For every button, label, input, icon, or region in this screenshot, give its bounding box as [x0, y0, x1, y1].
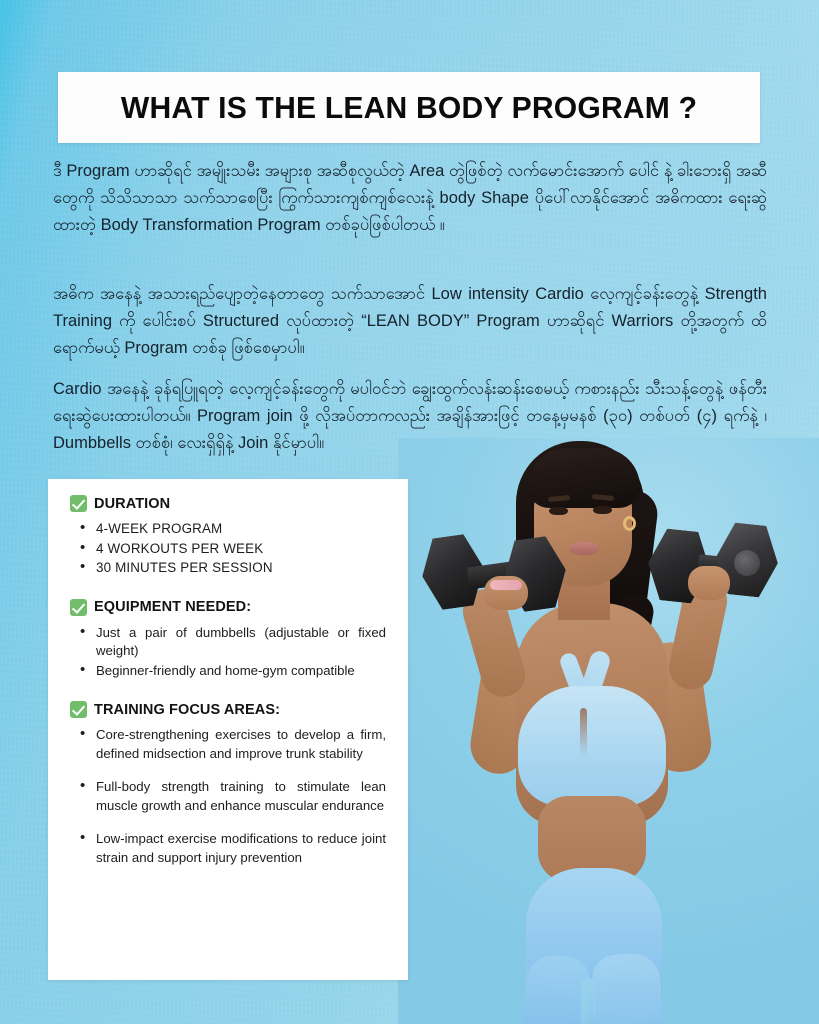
- training-focus-list: Core-strengthening exercises to develop …: [70, 726, 386, 867]
- sports-bra: [518, 686, 666, 806]
- section-label-equipment: EQUIPMENT NEEDED:: [94, 599, 251, 615]
- list-item: 4-WEEK PROGRAM: [70, 520, 386, 539]
- leg-gap-shadow: [581, 978, 595, 1024]
- check-icon: [70, 599, 87, 616]
- section-label-training-focus: TRAINING FOCUS AREAS:: [94, 702, 280, 718]
- list-item: Full-body strength training to stimulate…: [70, 778, 386, 815]
- spacer: [70, 681, 386, 691]
- fingernails-left: [490, 580, 522, 590]
- list-item: Just a pair of dumbbells (adjustable or …: [70, 624, 386, 661]
- section-header-equipment: EQUIPMENT NEEDED:: [70, 599, 386, 616]
- section-label-duration: DURATION: [94, 496, 170, 512]
- title-banner: WHAT IS THE LEAN BODY PROGRAM ?: [58, 72, 760, 143]
- check-icon: [70, 495, 87, 512]
- eye-left: [549, 507, 568, 515]
- page-title: WHAT IS THE LEAN BODY PROGRAM ?: [121, 90, 697, 126]
- list-item: 30 MINUTES PER SESSION: [70, 559, 386, 578]
- equipment-list: Just a pair of dumbbells (adjustable or …: [70, 624, 386, 681]
- section-header-training-focus: TRAINING FOCUS AREAS:: [70, 701, 386, 718]
- check-icon: [70, 701, 87, 718]
- spacer: [70, 579, 386, 589]
- poster-canvas: WHAT IS THE LEAN BODY PROGRAM ? ဒီ Progr…: [0, 0, 819, 1024]
- intro-paragraph-1: ဒီ Program ဟာဆိုရင် အမျိုးသမီး အများစု အ…: [53, 158, 767, 239]
- lips: [569, 542, 599, 555]
- intro-paragraph-3: Cardio အနေနဲ့ ခုန်ရပြူရတဲ့ လေ့ကျင့်ခန်းတ…: [53, 376, 767, 457]
- torso-shadow: [580, 708, 587, 756]
- list-item: 4 WORKOUTS PER WEEK: [70, 540, 386, 559]
- dumbbell-right-center-plate: [734, 550, 760, 576]
- eye-right: [593, 506, 612, 514]
- hair-top: [528, 448, 640, 508]
- hand-right: [688, 566, 730, 600]
- list-item: Core-strengthening exercises to develop …: [70, 726, 386, 763]
- section-header-duration: DURATION: [70, 495, 386, 512]
- list-item: Beginner-friendly and home-gym compatibl…: [70, 662, 386, 681]
- hoop-earring-icon: [623, 516, 636, 531]
- fitness-model-photo: [398, 438, 819, 1024]
- list-item: Low-impact exercise modifications to red…: [70, 830, 386, 867]
- intro-paragraph-2: အဓိက အနေနဲ့ အသားရည်ပျော့တဲ့နေတာတွေ သက်သာ…: [53, 281, 767, 362]
- program-details-card: DURATION 4-WEEK PROGRAM 4 WORKOUTS PER W…: [48, 479, 408, 980]
- thigh-right: [591, 952, 665, 1024]
- duration-list: 4-WEEK PROGRAM 4 WORKOUTS PER WEEK 30 MI…: [70, 520, 386, 578]
